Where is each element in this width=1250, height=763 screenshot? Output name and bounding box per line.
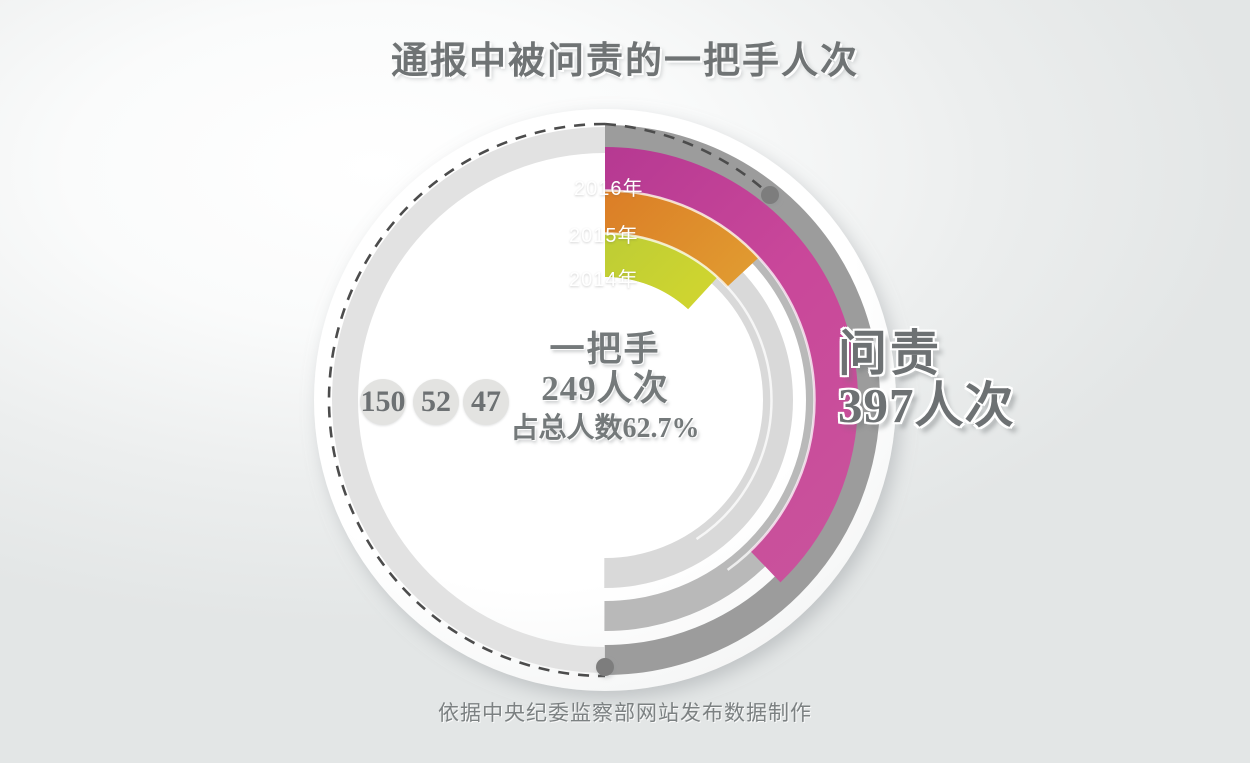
arc-label-2014: 2014年 [569, 263, 639, 292]
total-callout: 问责 397人次 [838, 328, 1068, 432]
total-callout-label: 问责 [838, 328, 1068, 380]
infographic-canvas: 通报中被问责的一把手人次 [0, 0, 1250, 763]
arc-label-2015: 2015年 [569, 219, 639, 248]
value-bubble-2014: 47 [463, 379, 509, 425]
total-callout-value: 397人次 [838, 380, 1068, 432]
value-bubble-2016: 150 [360, 379, 406, 425]
value-bubble-2015: 52 [413, 379, 459, 425]
arc-label-2016: 2016年 [574, 172, 644, 201]
source-note: 依据中央纪委监察部网站发布数据制作 [0, 697, 1250, 727]
dashed-arc-endpoint-bottom [596, 658, 614, 676]
dashed-arc-endpoint-top [761, 186, 779, 204]
inner-core [482, 277, 728, 523]
